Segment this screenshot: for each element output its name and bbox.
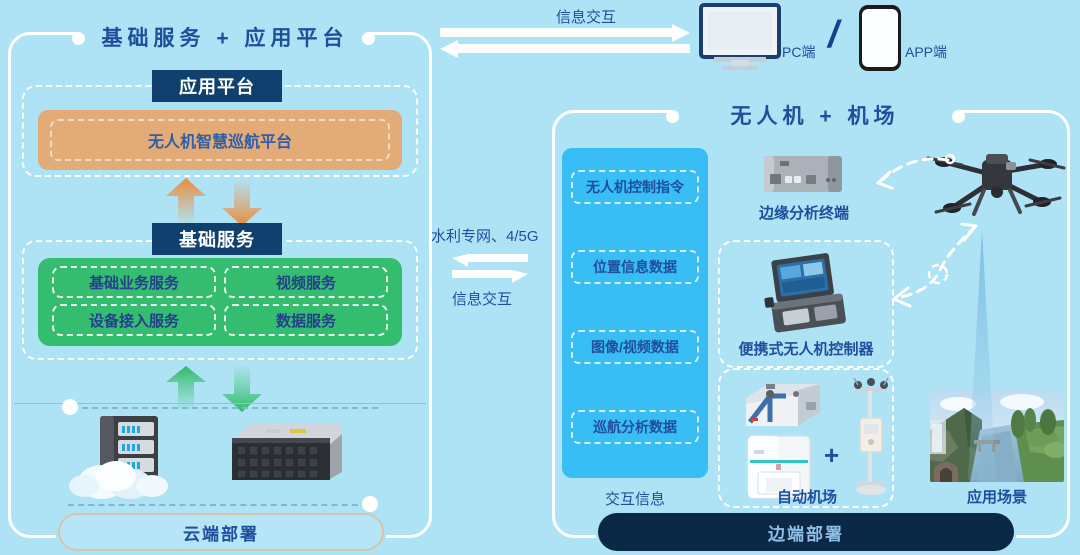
app-label: APP端 [905,42,947,62]
pc-monitor-icon [700,4,780,70]
device-separator: / [828,14,839,57]
app-phone-icon [858,4,902,72]
base-service-chip: 基础服务 [152,223,282,255]
drone-cruise-platform-block: 无人机智慧巡航平台 [38,110,402,170]
interaction-item-0: 无人机控制指令 [571,170,699,204]
interaction-info-caption: 交互信息 [562,488,708,509]
interaction-item-3: 巡航分析数据 [571,410,699,444]
right-panel-title: 无人机 + 机场 [676,100,954,130]
base-to-cloud-arrows [160,366,280,412]
application-scene-label: 应用场景 [930,486,1064,507]
middle-exchange-arrows [452,250,528,286]
edge-deploy-pill: 边端部署 [598,513,1014,551]
middle-network-label: 水利专网、4/5G [431,225,539,246]
terminal-to-drone-connector [848,148,958,218]
base-service-cell-3: 数据服务 [224,304,388,336]
cloud-top-dashes [82,407,378,409]
interaction-info-panel: 无人机控制指令 位置信息数据 图像/视频数据 巡航分析数据 [562,148,708,478]
cloud-deploy-pill: 云端部署 [58,513,384,551]
drone-cruise-platform-label: 无人机智慧巡航平台 [148,128,292,152]
cloud-server-icon [68,410,193,500]
interaction-item-1: 位置信息数据 [571,250,699,284]
base-service-green-block: 基础业务服务 视频服务 设备接入服务 数据服务 [38,258,402,346]
cloud-dot-bottomright [362,496,378,512]
interaction-item-2: 图像/视频数据 [571,330,699,364]
diagram-canvas: 基础服务 + 应用平台 应用平台 无人机智慧巡航平台 基础服务 [0,0,1080,555]
base-service-cell-0: 基础业务服务 [52,266,216,298]
edge-terminal-icon [762,152,844,196]
weather-station-icon [848,374,896,498]
left-panel-title: 基础服务 + 应用平台 [82,22,368,52]
portable-controller-icon [762,252,854,336]
airport-dock-icon [740,378,824,432]
base-service-cell-2: 设备接入服务 [52,304,216,336]
pc-label: PC端 [782,42,815,62]
middle-exchange-label: 信息交互 [452,288,512,309]
top-exchange-arrows [440,24,690,58]
base-service-cell-1: 视频服务 [224,266,388,298]
controller-to-drone-connector [880,218,1000,328]
app-platform-chip: 应用平台 [152,70,282,102]
airport-label: 自动机场 [724,486,890,507]
rack-server-icon [228,418,346,486]
cloud-bottom-dashes [68,504,368,506]
portable-controller-label: 便携式无人机控制器 [712,338,900,359]
airport-plus-sign: + [824,440,839,471]
app-to-base-arrows [160,178,280,226]
